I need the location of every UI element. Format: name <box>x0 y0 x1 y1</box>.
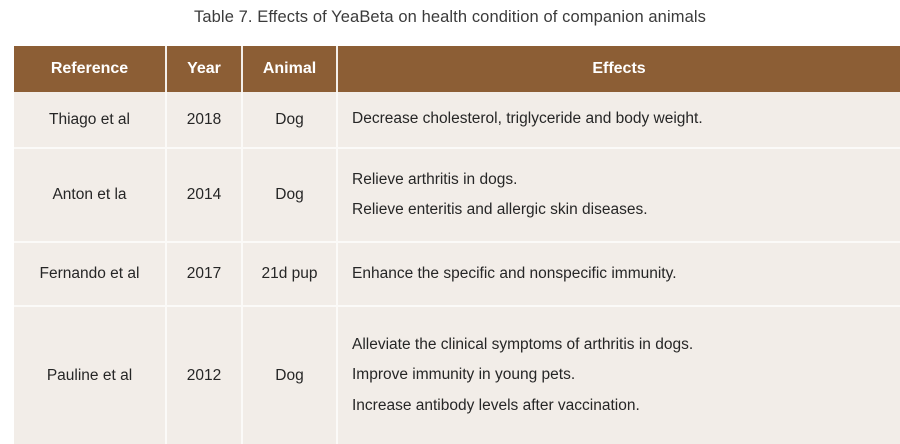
table-body: Thiago et al 2018 Dog Decrease cholester… <box>14 92 900 444</box>
effect-line: Relieve arthritis in dogs. <box>352 165 890 195</box>
cell-year: 2018 <box>166 92 242 148</box>
cell-animal: Dog <box>242 148 337 242</box>
cell-reference: Pauline et al <box>14 306 166 444</box>
effect-line: Alleviate the clinical symptoms of arthr… <box>352 330 890 360</box>
effect-line: Decrease cholesterol, triglyceride and b… <box>352 104 890 134</box>
table-header: Reference Year Animal Effects <box>14 46 900 92</box>
column-header-effects: Effects <box>337 46 900 92</box>
column-header-reference: Reference <box>14 46 166 92</box>
column-header-animal: Animal <box>242 46 337 92</box>
table-caption: Table 7. Effects of YeaBeta on health co… <box>0 8 900 27</box>
table-row: Fernando et al 2017 21d pup Enhance the … <box>14 242 900 306</box>
column-header-year: Year <box>166 46 242 92</box>
table-row: Anton et la 2014 Dog Relieve arthritis i… <box>14 148 900 242</box>
table-row: Thiago et al 2018 Dog Decrease cholester… <box>14 92 900 148</box>
cell-reference: Fernando et al <box>14 242 166 306</box>
document-page: Table 7. Effects of YeaBeta on health co… <box>0 0 900 406</box>
cell-effects: Enhance the specific and nonspecific imm… <box>337 242 900 306</box>
effect-line: Enhance the specific and nonspecific imm… <box>352 259 890 289</box>
cell-animal: 21d pup <box>242 242 337 306</box>
cell-year: 2012 <box>166 306 242 444</box>
effect-line: Relieve enteritis and allergic skin dise… <box>352 195 890 225</box>
header-row: Reference Year Animal Effects <box>14 46 900 92</box>
effects-table: Reference Year Animal Effects Thiago et … <box>14 46 900 444</box>
table-container: Reference Year Animal Effects Thiago et … <box>14 46 900 444</box>
cell-animal: Dog <box>242 92 337 148</box>
table-row: Pauline et al 2012 Dog Alleviate the cli… <box>14 306 900 444</box>
cell-year: 2017 <box>166 242 242 306</box>
cell-year: 2014 <box>166 148 242 242</box>
cell-effects: Alleviate the clinical symptoms of arthr… <box>337 306 900 444</box>
cell-effects: Decrease cholesterol, triglyceride and b… <box>337 92 900 148</box>
cell-effects: Relieve arthritis in dogs. Relieve enter… <box>337 148 900 242</box>
cell-animal: Dog <box>242 306 337 444</box>
cell-reference: Thiago et al <box>14 92 166 148</box>
cell-reference: Anton et la <box>14 148 166 242</box>
effect-line: Improve immunity in young pets. <box>352 360 890 390</box>
